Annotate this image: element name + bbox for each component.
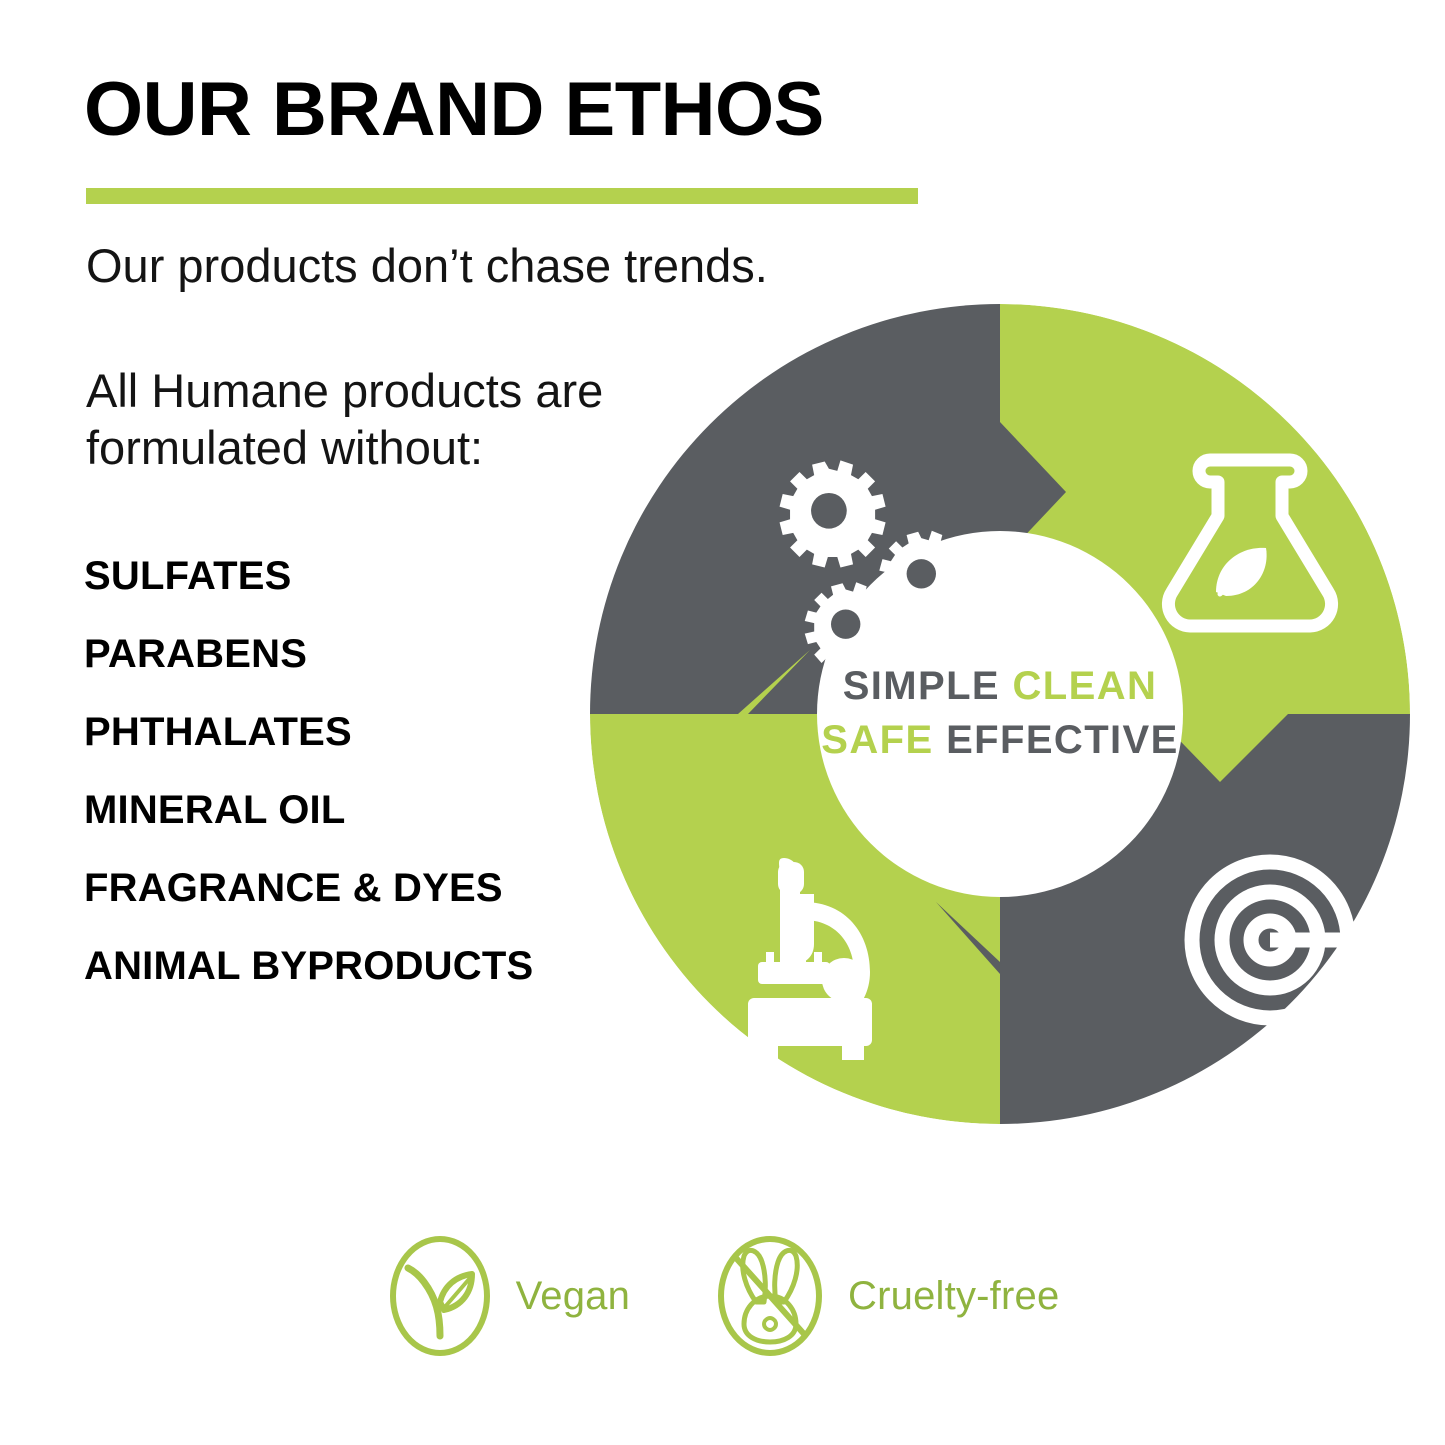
list-item: MINERAL OIL: [84, 790, 533, 830]
title-accent-bar: [86, 188, 918, 204]
list-item: PARABENS: [84, 634, 533, 674]
brand-ethos-wheel: [588, 302, 1412, 1126]
cruelty-free-rabbit-icon: [714, 1232, 826, 1360]
badge-label-vegan: Vegan: [516, 1274, 630, 1319]
badge-vegan: Vegan: [386, 1232, 630, 1360]
page-title: OUR BRAND ETHOS: [84, 72, 824, 148]
subtitle-text: Our products don’t chase trends.: [86, 238, 768, 293]
list-item: PHTHALATES: [84, 712, 533, 752]
vegan-sprout-icon: [386, 1232, 494, 1360]
infographic-page: OUR BRAND ETHOS Our products don’t chase…: [0, 0, 1445, 1445]
badge-label-cruelty-free: Cruelty-free: [848, 1274, 1059, 1319]
list-item: SULFATES: [84, 556, 533, 596]
list-item: FRAGRANCE & DYES: [84, 868, 533, 908]
list-item: ANIMAL BYPRODUCTS: [84, 946, 533, 986]
free-from-list: SULFATES PARABENS PHTHALATES MINERAL OIL…: [84, 556, 533, 1024]
certification-badges: Vegan Cruelty-free: [0, 1232, 1445, 1360]
badge-cruelty-free: Cruelty-free: [714, 1232, 1059, 1360]
